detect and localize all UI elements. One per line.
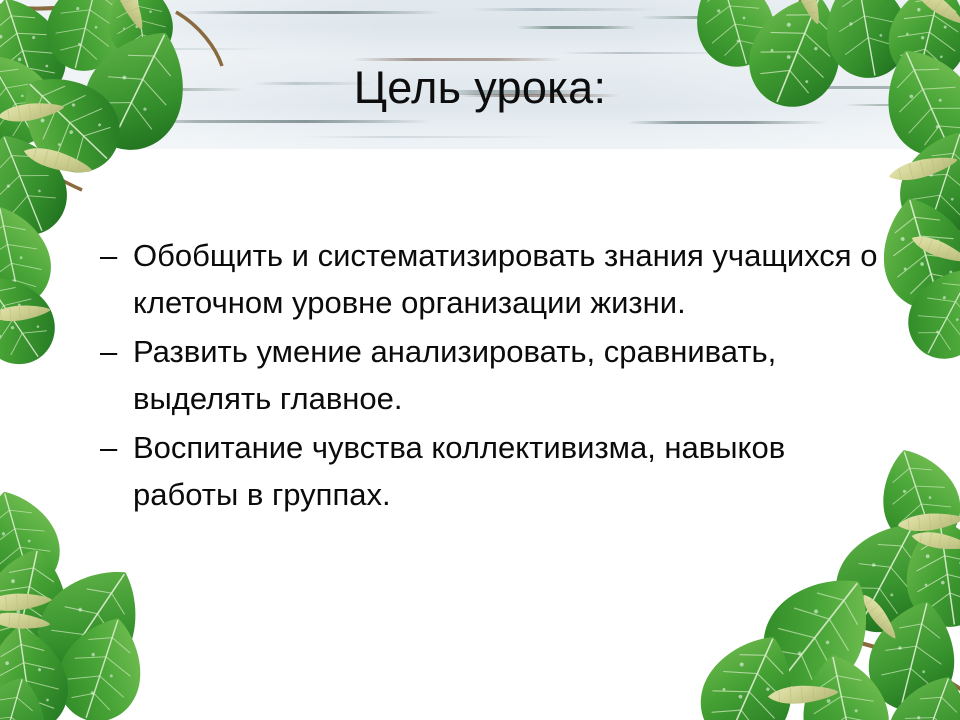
list-item-text: Воспитание чувства коллективизма, навыко… bbox=[133, 424, 890, 518]
bullet-dash-icon: – bbox=[100, 424, 133, 471]
list-item-text: Развить умение анализировать, сравнивать… bbox=[133, 328, 890, 422]
list-item: – Воспитание чувства коллективизма, навы… bbox=[100, 424, 890, 518]
slide-title: Цель урока: bbox=[0, 62, 960, 114]
bullet-dash-icon: – bbox=[100, 232, 133, 279]
list-item-text: Обобщить и систематизировать знания учащ… bbox=[133, 232, 890, 326]
slide: Цель урока: – Обобщить и систематизирова… bbox=[0, 0, 960, 720]
objectives-list: – Обобщить и систематизировать знания уч… bbox=[100, 232, 890, 520]
list-item: – Развить умение анализировать, сравнива… bbox=[100, 328, 890, 422]
list-item: – Обобщить и систематизировать знания уч… bbox=[100, 232, 890, 326]
bullet-dash-icon: – bbox=[100, 328, 133, 375]
